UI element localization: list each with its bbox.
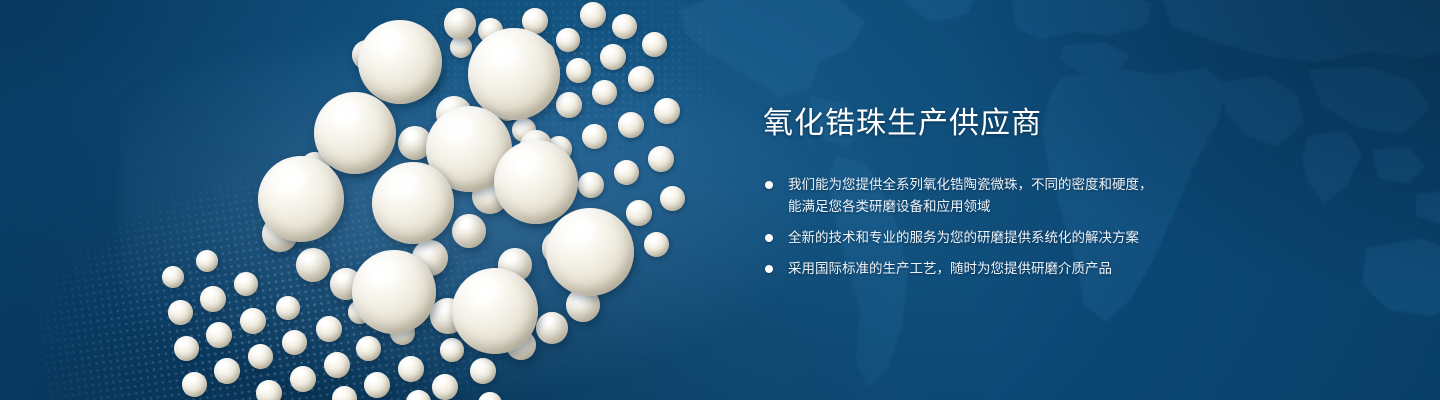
bullet-dot-icon [765, 265, 773, 273]
banner-copy: 氧化锆珠生产供应商 我们能为您提供全系列氧化锆陶瓷微珠，不同的密度和硬度， 能满… [763, 104, 1233, 280]
list-item: 采用国际标准的生产工艺，随时为您提供研磨介质产品 [763, 258, 1233, 280]
page-title: 氧化锆珠生产供应商 [763, 104, 1233, 144]
list-item-line: 我们能为您提供全系列氧化锆陶瓷微珠，不同的密度和硬度， [788, 174, 1233, 196]
list-item: 我们能为您提供全系列氧化锆陶瓷微珠，不同的密度和硬度， 能满足您各类研磨设备和应… [763, 174, 1233, 218]
list-item-line: 能满足您各类研磨设备和应用领域 [788, 196, 1233, 218]
list-item: 全新的技术和专业的服务为您的研磨提供系统化的解决方案 [763, 227, 1233, 249]
list-item-line: 采用国际标准的生产工艺，随时为您提供研磨介质产品 [788, 258, 1233, 280]
hero-banner: 氧化锆珠生产供应商 我们能为您提供全系列氧化锆陶瓷微珠，不同的密度和硬度， 能满… [0, 0, 1440, 400]
bullet-dot-icon [765, 234, 773, 242]
feature-list: 我们能为您提供全系列氧化锆陶瓷微珠，不同的密度和硬度， 能满足您各类研磨设备和应… [763, 174, 1233, 280]
bullet-dot-icon [765, 181, 773, 189]
list-item-line: 全新的技术和专业的服务为您的研磨提供系统化的解决方案 [788, 227, 1233, 249]
